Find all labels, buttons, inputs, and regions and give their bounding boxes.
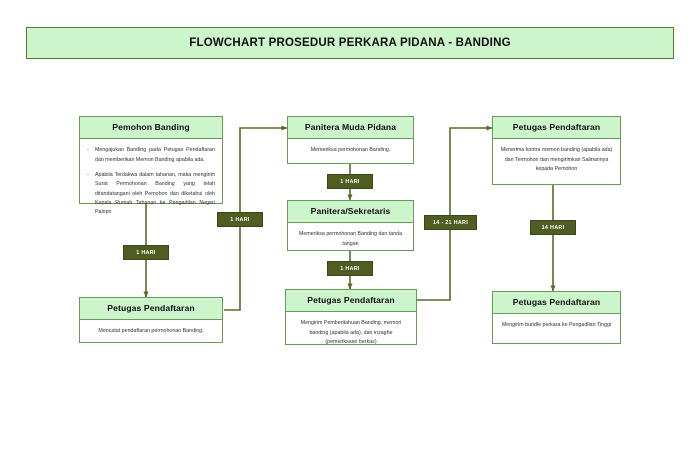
node-body: Memeriksa permohonan Banding dan tanda t… [288,223,413,256]
badge-sekretaris-to-pendaftaran: 1 HARI [327,261,373,276]
node-header: Panitera Muda Pidana [288,117,413,139]
node-body-line: Mengirim bundle perkara ke Pengadilan Ti… [500,321,613,330]
node-petugas-pendaftaran-bundle[interactable]: Petugas Pendaftaran Mengirim bundle perk… [492,291,621,344]
badge-pemohon-to-pendaftaran: 1 HARI [123,245,169,260]
connector-pemberitahuan-to-kontra-memori [417,128,492,300]
node-body-line: Memeriksa permohonan Banding dan tanda t… [295,230,406,249]
badge-label: 1 HARI [340,179,359,185]
badge-label: 1 HARI [136,250,155,256]
node-body-line: Apabila Terdakwa dalam tahanan, maka men… [87,171,215,217]
badge-pemberitahuan-to-kontra-memori: 14 - 21 HARI [424,215,477,230]
node-body: Memeriksa permohonan Banding. [288,139,413,162]
node-header: Panitera/Sekretaris [288,201,413,223]
node-petugas-pendaftaran-pemberitahuan[interactable]: Petugas Pendaftaran Mengirim Pemberitahu… [285,289,417,345]
node-body-line: Mencatat pendaftaran permohonan Banding. [87,327,215,336]
node-header: Petugas Pendaftaran [493,117,620,139]
badge-label: 1 HARI [340,266,359,272]
node-petugas-pendaftaran-mencatat[interactable]: Petugas Pendaftaran Mencatat pendaftaran… [79,297,223,343]
node-body: Mengajukan Banding pada Petugas Pendafta… [80,139,222,224]
node-body: Mengirim bundle perkara ke Pengadilan Ti… [493,314,620,337]
node-body-list: Mengajukan Banding pada Petugas Pendafta… [87,146,215,217]
node-body-line: Mengirim Pemberitahuan Banding, memori b… [293,319,409,347]
node-body-line: Menerima kontra memori banding (apabila … [500,146,613,174]
node-body: Mengirim Pemberitahuan Banding, memori b… [286,312,416,354]
badge-panitera-muda-to-sekretaris: 1 HARI [327,174,373,189]
flowchart-title-banner: FLOWCHART PROSEDUR PERKARA PIDANA - BAND… [26,27,674,59]
node-body: Mencatat pendaftaran permohonan Banding. [80,320,222,343]
node-body-line: Memeriksa permohonan Banding. [295,146,406,155]
node-header: Petugas Pendaftaran [80,298,222,320]
badge-label: 1 HARI [230,217,249,223]
node-panitera-sekretaris[interactable]: Panitera/Sekretaris Memeriksa permohonan… [287,200,414,251]
badge-pendaftaran-to-panitera-muda: 1 HARI [217,212,263,227]
badge-label: 14 HARI [542,225,565,231]
badge-label: 14 - 21 HARI [433,220,468,226]
node-pemohon-banding[interactable]: Pemohon Banding Mengajukan Banding pada … [79,116,223,204]
node-panitera-muda-pidana[interactable]: Panitera Muda Pidana Memeriksa permohona… [287,116,414,164]
node-body: Menerima kontra memori banding (apabila … [493,139,620,181]
badge-kontra-memori-to-bundle: 14 HARI [530,220,576,235]
node-body-line: Mengajukan Banding pada Petugas Pendafta… [87,146,215,165]
node-header: Pemohon Banding [80,117,222,139]
node-header: Petugas Pendaftaran [286,290,416,312]
page-title: FLOWCHART PROSEDUR PERKARA PIDANA - BAND… [189,37,510,49]
flowchart-canvas: FLOWCHART PROSEDUR PERKARA PIDANA - BAND… [0,0,700,455]
node-header: Petugas Pendaftaran [493,292,620,314]
node-petugas-pendaftaran-kontra-memori[interactable]: Petugas Pendaftaran Menerima kontra memo… [492,116,621,185]
